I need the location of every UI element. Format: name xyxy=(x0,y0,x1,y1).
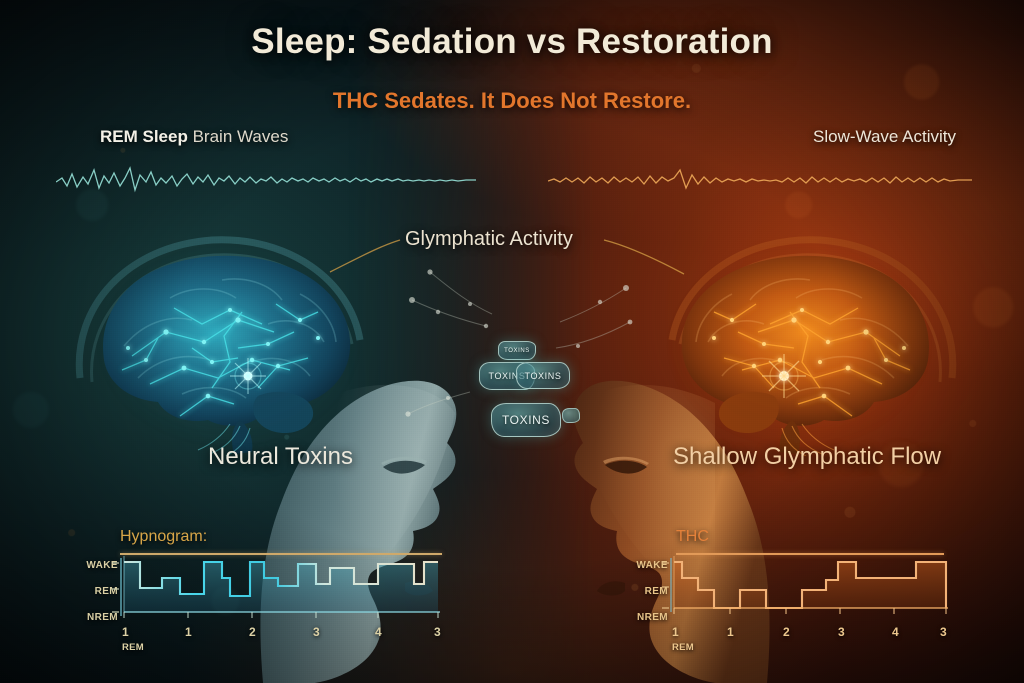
rem-sleep-label: REM Sleep Brain Waves xyxy=(100,127,288,147)
hypnogram-right-rule xyxy=(676,553,944,555)
page-title: Sleep: Sedation vs Restoration xyxy=(0,22,1024,62)
hypnogram-left-title: Hypnogram: xyxy=(120,528,207,546)
hypnogram-left-xtick-3: 3 xyxy=(313,625,320,639)
hypnogram-left-xtick-5: 3 xyxy=(434,625,441,639)
rem-sleep-label-strong: REM Sleep xyxy=(100,127,188,146)
shallow-flow-label: Shallow Glymphatic Flow xyxy=(673,443,941,471)
hypnogram-left-xtick-4: 4 xyxy=(375,625,382,639)
rem-eeg-waveform xyxy=(56,160,476,196)
hypnogram-right-xtick-1: 1 xyxy=(727,625,734,639)
hypnogram-right-xtick-3: 3 xyxy=(838,625,845,639)
toxin-bubble: TOXINS xyxy=(516,362,570,389)
infographic-canvas: Sleep: Sedation vs Restoration THC Sedat… xyxy=(0,0,1024,683)
toxin-satellite-blob xyxy=(562,408,580,423)
toxin-bubble: TOXINS xyxy=(498,341,536,360)
hypnogram-left-xtick-2: 2 xyxy=(249,625,256,639)
hypnogram-left-rule xyxy=(120,553,442,555)
hypnogram-left-yticks xyxy=(110,556,124,626)
toxin-bubble-label: TOXINS xyxy=(525,371,562,381)
hypnogram-left-plot xyxy=(118,556,444,626)
hypnogram-left-xtick-0: 1 REM xyxy=(122,625,144,653)
page-subtitle: THC Sedates. It Does Not Restore. xyxy=(0,88,1024,114)
hypnogram-right-yticks xyxy=(660,556,674,626)
neural-toxins-label: Neural Toxins xyxy=(208,443,353,471)
glymphatic-activity-label: Glymphatic Activity xyxy=(405,228,573,251)
hypnogram-right-title: THC xyxy=(676,528,709,546)
toxin-bubble-label: TOXINS xyxy=(504,348,530,354)
hypnogram-right-xtick-4: 4 xyxy=(892,625,899,639)
toxin-bubble-label: TOXINS xyxy=(502,413,550,427)
rem-sleep-label-rest: Brain Waves xyxy=(188,127,288,146)
hypnogram-left-xtick-1: 1 xyxy=(185,625,192,639)
hypnogram-right-xtick-0: 1 REM xyxy=(672,625,694,653)
slow-wave-eeg-waveform xyxy=(548,160,972,196)
hypnogram-right-xtick-2: 2 xyxy=(783,625,790,639)
toxin-bubble: TOXINS xyxy=(491,403,561,437)
hypnogram-right-xtick-0-text: 1 REM xyxy=(672,625,694,653)
hypnogram-left-xtick-0-text: 1 REM xyxy=(122,625,144,653)
slow-wave-label: Slow-Wave Activity xyxy=(813,127,956,147)
hypnogram-right-xtick-5: 3 xyxy=(940,625,947,639)
hypnogram-right-plot xyxy=(668,556,954,626)
